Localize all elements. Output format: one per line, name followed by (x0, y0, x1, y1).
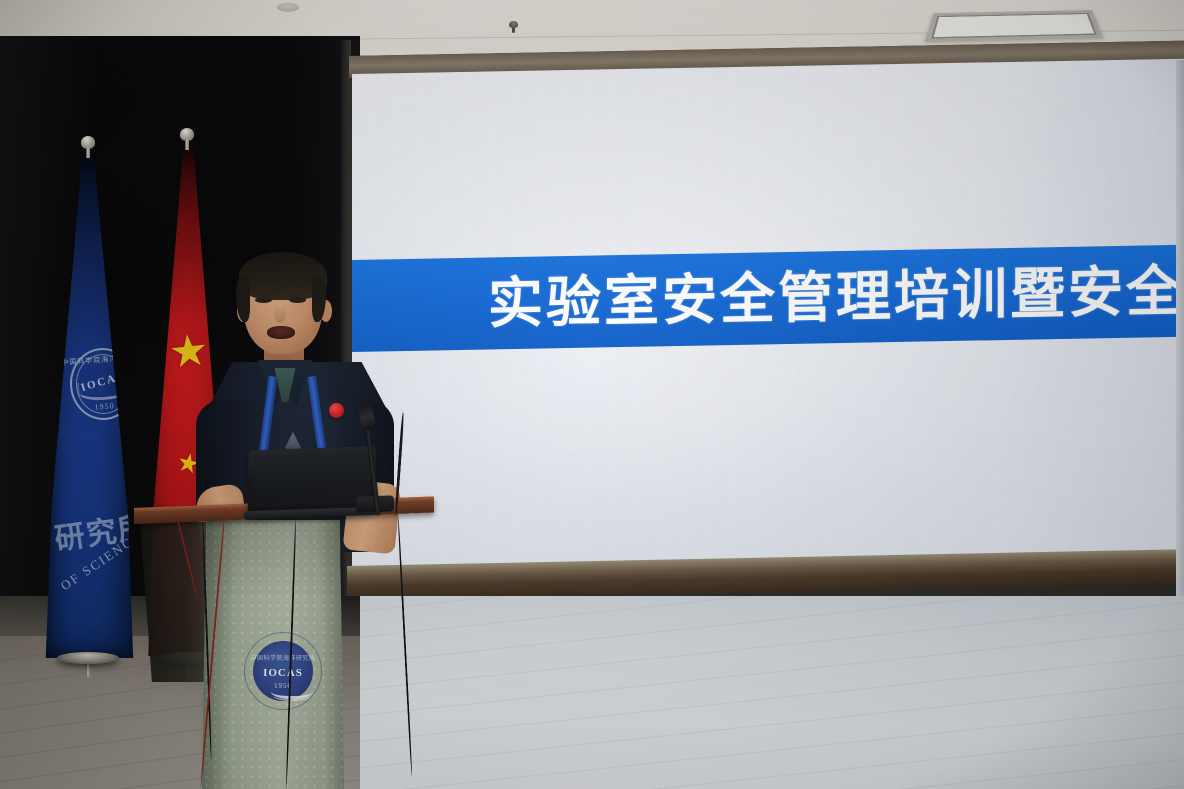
slide-title-band: 实验室安全管理培训暨安全 (352, 244, 1184, 352)
podium-emblem-arc-text: 中国科学院海洋研究所 (250, 653, 315, 662)
slide-title-text: 实验室安全管理培训暨安全 (488, 263, 1184, 331)
chest-badge-icon (329, 403, 344, 418)
speaker-mouth (267, 326, 295, 339)
flag-shading (40, 158, 136, 658)
flag-cloth: 中国科学院海洋研究所 IOCAS 1950 研究所 OF SCIENCES (40, 158, 136, 658)
speaker-eye-left (255, 297, 272, 303)
right-wall-strip (1176, 60, 1184, 600)
podium-emblem-disc: 中国科学院海洋研究所 IOCAS 1950 (253, 641, 313, 701)
flag-base (57, 652, 119, 664)
speaker-eye-right (289, 297, 306, 303)
podium-emblem-acronym: IOCAS (263, 667, 303, 679)
sprinkler-icon (509, 21, 518, 28)
ceiling-light-panel (925, 10, 1104, 42)
laptop-screen (254, 451, 370, 507)
ceiling-fixture-icon (277, 3, 299, 12)
speaker-hair-side-left (236, 276, 250, 322)
podium-iocas-emblem: 中国科学院海洋研究所 IOCAS 1950 (244, 632, 322, 710)
podium-emblem-wave-icon (273, 691, 311, 701)
speaker-nose (274, 305, 286, 323)
presentation-scene: 实验室安全管理培训暨安全 中国科学院海洋研究所 IOCAS 1950 研究所 O… (0, 0, 1184, 789)
projection-screen[interactable]: 实验室安全管理培训暨安全 (352, 59, 1184, 574)
